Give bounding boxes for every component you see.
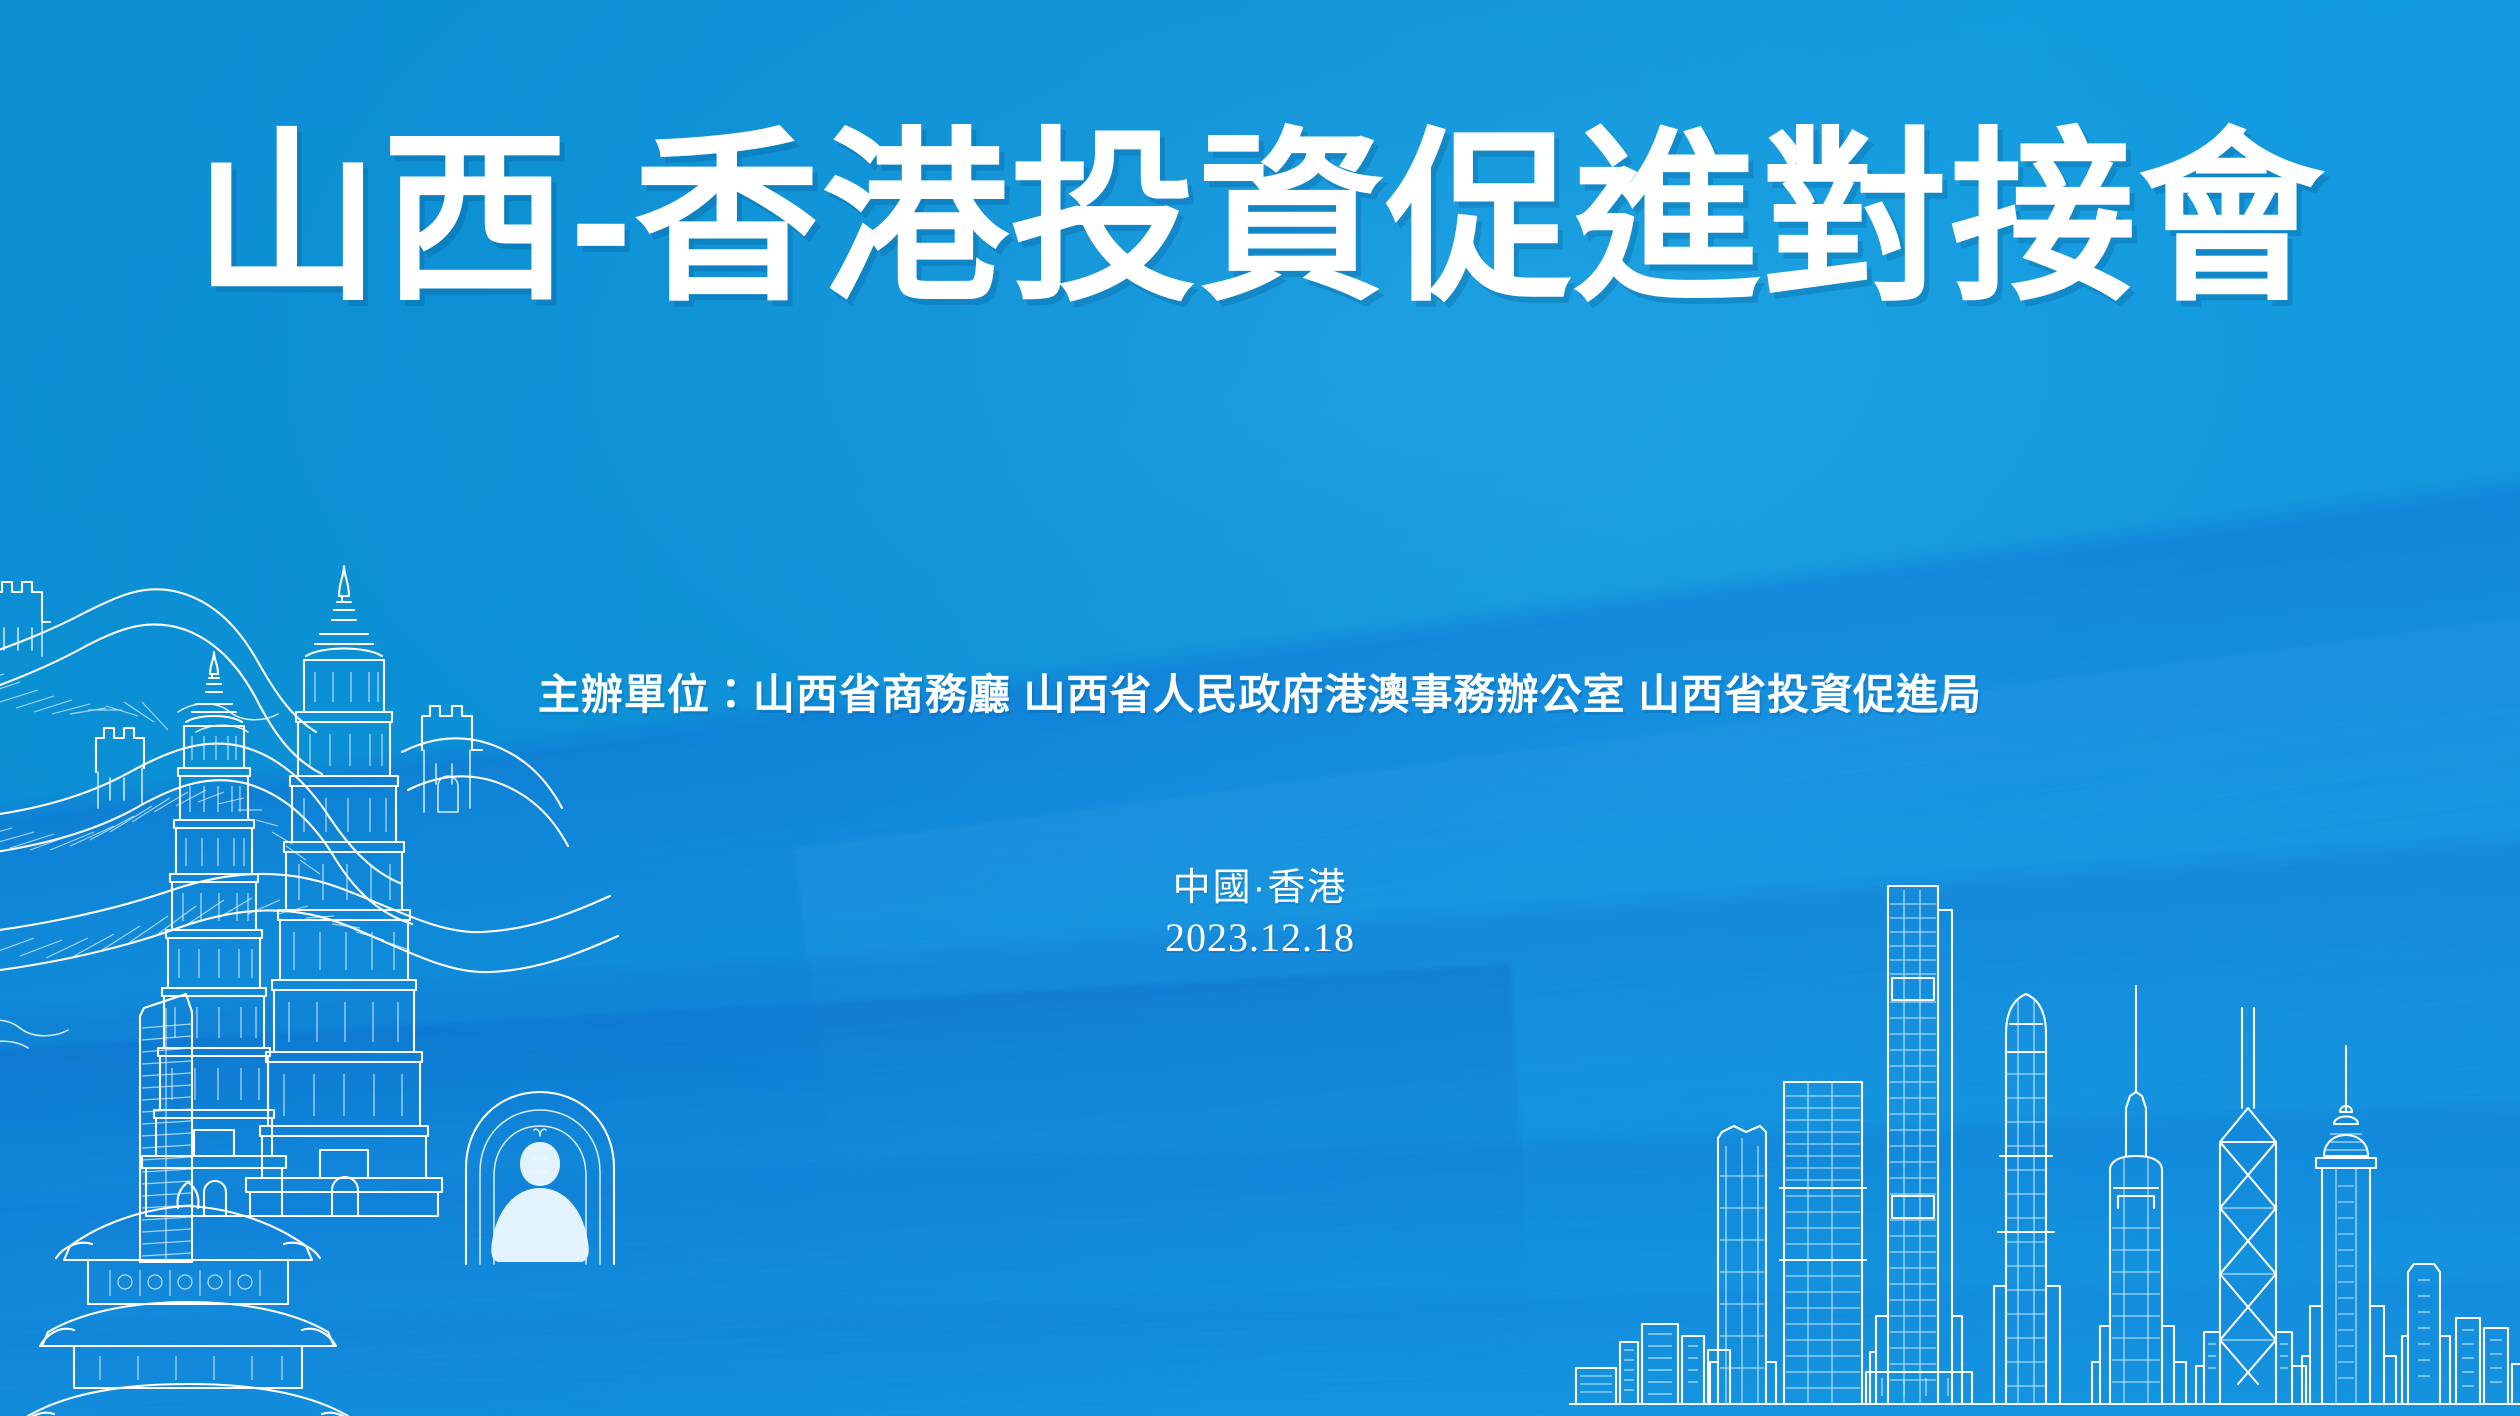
poster-canvas: 山西-香港投資促進對接會 主辦單位：山西省商務廳 山西省人民政府港澳事務辦公室 … (0, 0, 2520, 1416)
organizers-line: 主辦單位：山西省商務廳 山西省人民政府港澳事務辦公室 山西省投資促進局 (0, 661, 2520, 722)
poster-text-block: 山西-香港投資促進對接會 主辦單位：山西省商務廳 山西省人民政府港澳事務辦公室 … (0, 0, 2520, 1416)
event-location: 中國·香港 (0, 856, 2520, 911)
page-title: 山西-香港投資促進對接會 (0, 118, 2520, 323)
event-date: 2023.12.18 (0, 914, 2520, 961)
